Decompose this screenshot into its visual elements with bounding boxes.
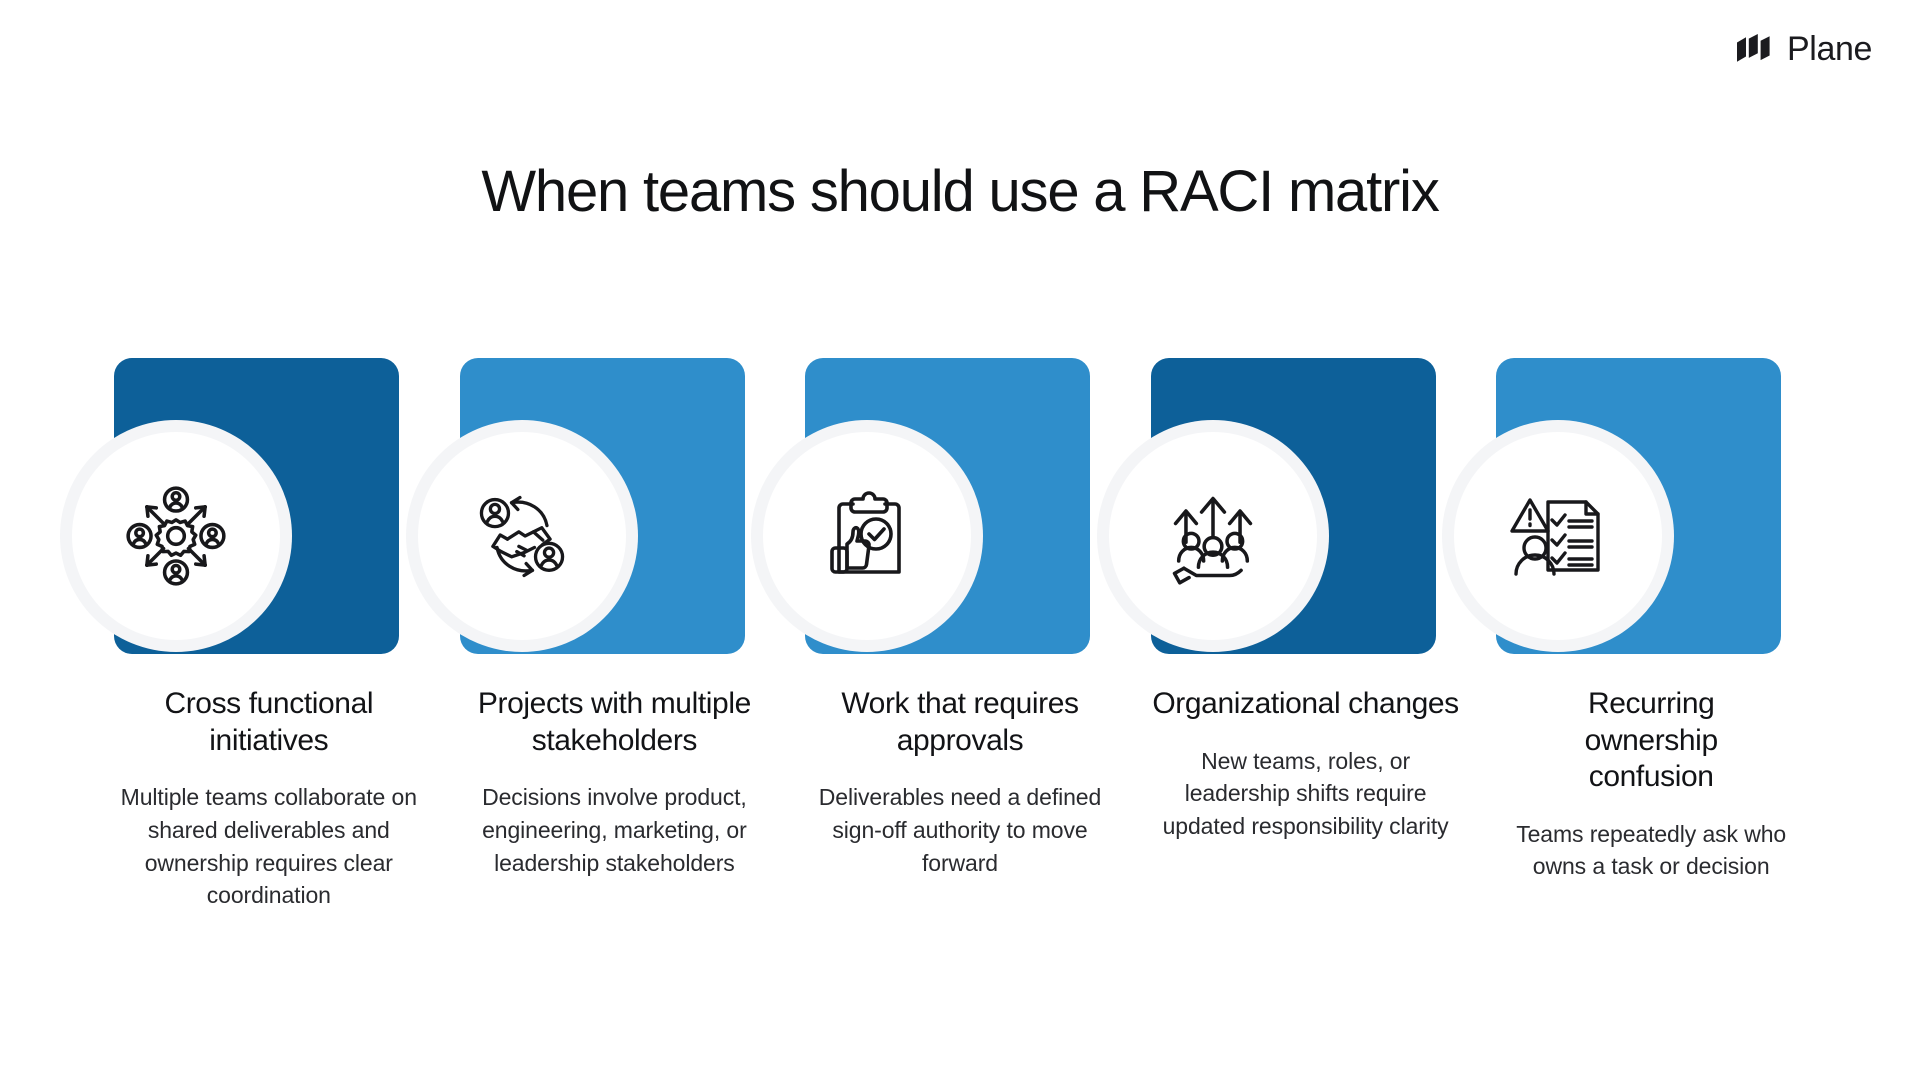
card-visual [1478, 358, 1824, 658]
card-cross-functional-initiatives: Cross functional initiatives Multiple te… [96, 358, 442, 912]
card-title: Organizational changes [1141, 686, 1471, 723]
card-body: Teams repeatedly ask who owns a task or … [1516, 818, 1786, 883]
card-work-that-requires-approvals: Work that requires approvals Deliverable… [787, 358, 1133, 879]
icon-disc [72, 432, 280, 640]
card-title: Work that requires approvals [787, 686, 1132, 759]
icon-disc [1109, 432, 1317, 640]
brand-name: Plane [1787, 32, 1872, 66]
handshake-collaboration-cycle-icon [470, 484, 574, 588]
card-body: New teams, roles, or leadership shifts r… [1156, 745, 1456, 843]
hand-holding-team-growth-icon [1161, 484, 1265, 588]
card-projects-with-multiple-stakeholders: Projects with multiple stakeholders Deci… [442, 358, 788, 879]
page-title: When teams should use a RACI matrix [0, 160, 1920, 224]
cards-row: Cross functional initiatives Multiple te… [96, 358, 1824, 912]
slide-canvas: Plane When teams should use a RACI matri… [0, 0, 1920, 1080]
icon-disc [763, 432, 971, 640]
card-title: Projects with multiple stakeholders [442, 686, 787, 759]
brand-logo: Plane [1735, 32, 1872, 66]
card-organizational-changes: Organizational changes New teams, roles,… [1133, 358, 1479, 843]
clipboard-approved-thumbs-up-icon [817, 486, 917, 586]
card-visual [787, 358, 1133, 658]
card-body: Multiple teams collaborate on shared del… [119, 781, 419, 912]
card-visual [96, 358, 442, 658]
card-title: Cross functional initiatives [104, 686, 434, 759]
card-title: Recurring ownership confusion [1521, 686, 1781, 796]
card-body: Deliverables need a defined sign-off aut… [810, 781, 1110, 879]
icon-disc [1454, 432, 1662, 640]
people-gear-network-icon [124, 484, 228, 588]
card-visual [442, 358, 788, 658]
card-visual [1133, 358, 1479, 658]
card-body: Decisions involve product, engineering, … [464, 781, 764, 879]
person-warning-checklist-icon [1508, 486, 1608, 586]
card-recurring-ownership-confusion: Recurring ownership confusion Teams repe… [1478, 358, 1824, 883]
icon-disc [418, 432, 626, 640]
plane-logo-icon [1735, 34, 1777, 64]
